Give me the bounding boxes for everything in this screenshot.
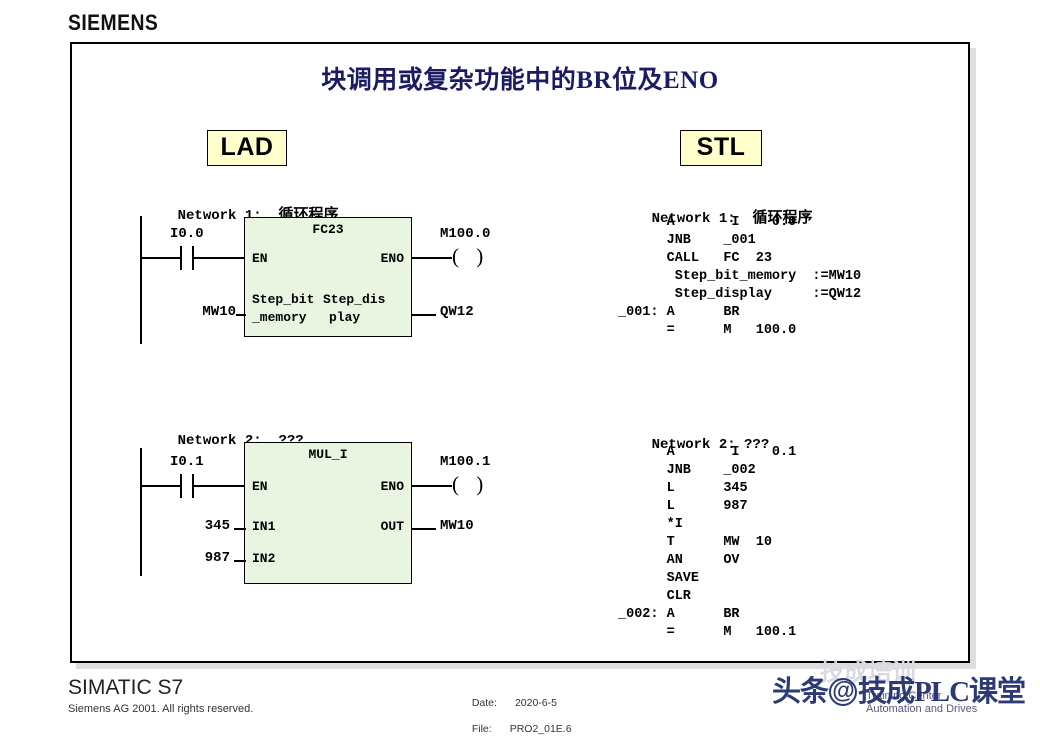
lad-net2-pin-out: OUT	[381, 519, 404, 534]
lad-net2-coil: ( )	[452, 472, 489, 497]
lad-net1-wire-in	[236, 314, 246, 316]
page-title: 块调用或复杂功能中的BR位及ENO	[72, 60, 968, 96]
lad-net1-coil: ( )	[452, 244, 489, 269]
slide-frame: 块调用或复杂功能中的BR位及ENO LAD STL Network 1: 循环程…	[70, 42, 970, 663]
lad-net2-pin-in2: IN2	[252, 551, 275, 566]
lad-net1-wire-eno	[412, 257, 452, 259]
footer-file-value: PRO2_01E.6	[510, 723, 572, 736]
lad-net2-coil-operand: M100.1	[440, 454, 490, 470]
watermark-at-icon: @	[829, 678, 857, 706]
lad-net2-wire-in2	[234, 560, 246, 562]
footer-product-title: SIMATIC S7	[68, 676, 183, 700]
lad-net1-pin-eno: ENO	[381, 251, 404, 266]
lad-net2-contact-i01	[180, 474, 194, 498]
lad-badge: LAD	[207, 130, 287, 166]
siemens-sub-line2: Automation and Drives	[866, 703, 977, 715]
lad-net2-out-operand: MW10	[440, 518, 474, 534]
siemens-sub-line1: Training Center	[866, 690, 941, 702]
lad-net1-pin-in-l1: Step_bit	[252, 292, 314, 307]
footer-date-value: 2020-6-5	[515, 697, 557, 710]
lad-net2-pin-eno: ENO	[381, 479, 404, 494]
lad-net2-wire-in1	[234, 528, 246, 530]
lad-net1-pin-in-l2: _memory	[252, 310, 307, 325]
watermark-text-left: 头条	[772, 676, 828, 708]
lad-net2-power-rail	[140, 448, 142, 576]
lad-net1-pin-out-l2: play	[329, 310, 360, 325]
footer-copyright: Siemens AG 2001. All rights reserved.	[68, 703, 253, 715]
lad-net1-wire-rail-contact	[140, 257, 180, 259]
stl-network1-code: A I 0.0 JNB _001 CALL FC 23 Step_bit_mem…	[618, 214, 861, 340]
siemens-logo: SIEMENS	[68, 10, 158, 36]
siemens-training-subtitle: Training Center Automation and Drives	[866, 690, 977, 716]
stl-network2-code: A I 0.1 JNB _002 L 345 L 987 *I T MW 10 …	[618, 444, 796, 642]
lad-net1-block-title: FC23	[245, 222, 411, 237]
lad-net1-pin-out-l1: Step_dis	[323, 292, 385, 307]
lad-net2-wire-out	[412, 528, 436, 530]
lad-net2-contact-operand: I0.1	[170, 454, 204, 470]
lad-net1-contact-i00	[180, 246, 194, 270]
lad-net1-block-fc23: FC23 EN ENO Step_bit _memory Step_dis pl…	[244, 217, 412, 337]
lad-net2-block-mul-i: MUL_I EN ENO IN1 OUT IN2	[244, 442, 412, 584]
lad-net2-block-title: MUL_I	[245, 447, 411, 462]
stl-badge: STL	[680, 130, 762, 166]
lad-net1-pin-en: EN	[252, 251, 268, 266]
lad-net2-wire-rail-contact	[140, 485, 180, 487]
lad-net2-wire-contact-block	[194, 485, 244, 487]
lad-net1-coil-operand: M100.0	[440, 226, 490, 242]
lad-net1-power-rail	[140, 216, 142, 344]
lad-net2-pin-en: EN	[252, 479, 268, 494]
lad-net1-wire-out	[412, 314, 436, 316]
lad-net1-wire-contact-block	[194, 257, 244, 259]
footer-date-label: Date:	[472, 697, 497, 709]
lad-net2-pin-in1: IN1	[252, 519, 275, 534]
lad-net2-wire-eno	[412, 485, 452, 487]
lad-net2-in1-operand: 345	[168, 518, 230, 534]
lad-net1-out-operand: QW12	[440, 304, 474, 320]
lad-net1-contact-operand: I0.0	[170, 226, 204, 242]
footer-meta: Date:2020-6-5 File:PRO2_01E.6	[466, 684, 572, 736]
lad-net2-in2-operand: 987	[168, 550, 230, 566]
footer-file-label: File:	[472, 723, 492, 735]
lad-net1-in-operand: MW10	[160, 304, 236, 320]
